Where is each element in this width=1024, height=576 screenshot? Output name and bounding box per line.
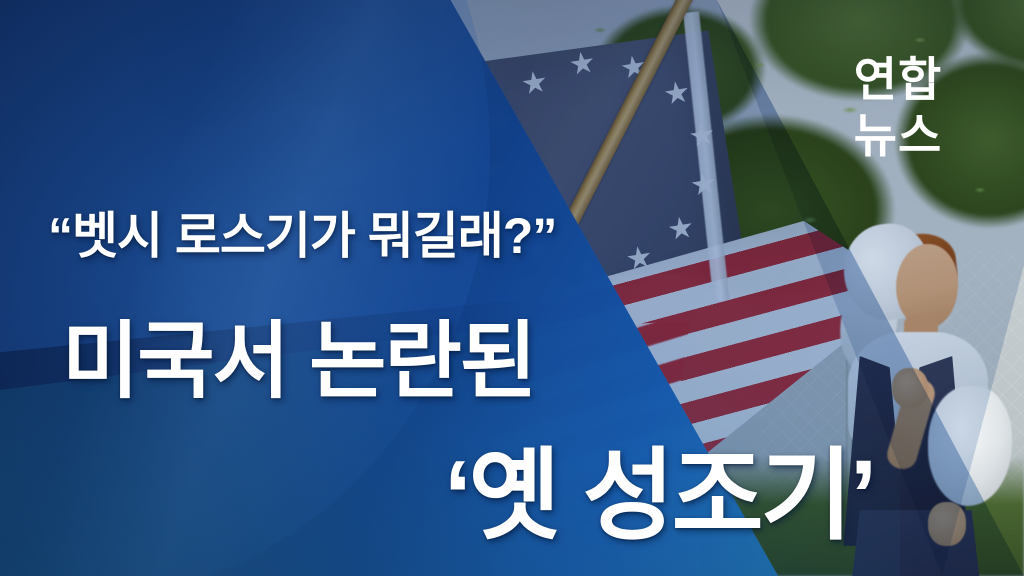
headline-line-1: “벳시 로스기가 뭐길래?” <box>48 196 556 268</box>
headline-line-3: ‘옛 성조기’ <box>444 414 874 559</box>
news-thumbnail-card: SCHOOL <box>0 0 1024 576</box>
headline-line-2: 미국서 논란된 <box>62 294 535 415</box>
headline-block: “벳시 로스기가 뭐길래?” 미국서 논란된 ‘옛 성조기’ <box>0 0 1024 576</box>
